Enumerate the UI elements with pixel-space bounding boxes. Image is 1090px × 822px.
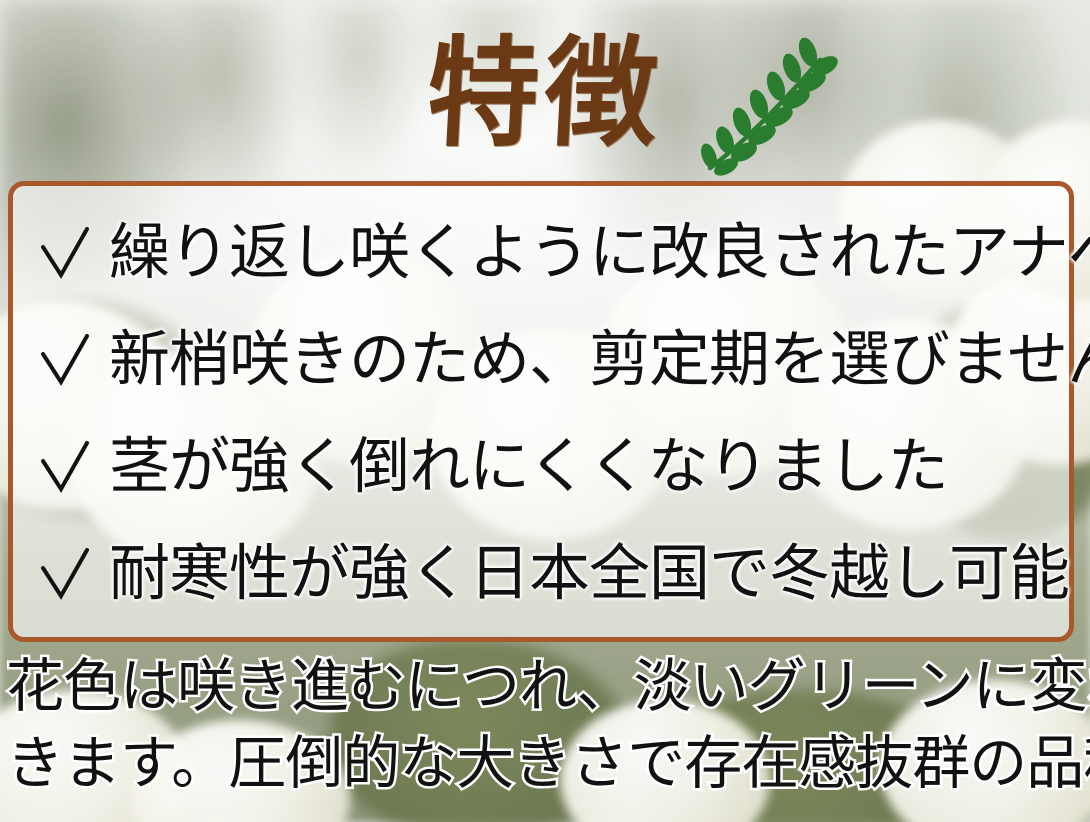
check-icon bbox=[37, 328, 93, 392]
feature-banner: 特徴 繰り返し咲くように改良されたアナベル bbox=[0, 0, 1090, 822]
caption-block: 花色は咲き進むにつれ、淡いグリーンに変わってい きます。圧倒的な大きさで存在感抜… bbox=[6, 648, 1086, 802]
check-icon bbox=[37, 542, 93, 606]
check-icon bbox=[37, 435, 93, 499]
caption-line: きます。圧倒的な大きさで存在感抜群の品種です。 bbox=[6, 725, 1086, 802]
caption-line: 花色は咲き進むにつれ、淡いグリーンに変わってい bbox=[6, 648, 1086, 725]
feature-item-label: 茎が強く倒れにくくなりました bbox=[109, 435, 948, 499]
feature-item: 繰り返し咲くように改良されたアナベル bbox=[23, 205, 1059, 301]
feature-item: 耐寒性が強く日本全国で冬越し可能 bbox=[23, 526, 1059, 622]
title-area: 特徴 bbox=[0, 14, 1090, 174]
feature-item: 茎が強く倒れにくくなりました bbox=[23, 419, 1059, 515]
feature-item-label: 繰り返し咲くように改良されたアナベル bbox=[109, 221, 1090, 285]
feature-list-box: 繰り返し咲くように改良されたアナベル 新梢咲きのため、剪定期を選びません 茎が強… bbox=[8, 181, 1074, 642]
check-icon bbox=[37, 221, 93, 285]
feature-item-label: 耐寒性が強く日本全国で冬越し可能 bbox=[109, 542, 1069, 606]
feature-item-label: 新梢咲きのため、剪定期を選びません bbox=[109, 328, 1090, 392]
feature-item: 新梢咲きのため、剪定期を選びません bbox=[23, 312, 1059, 408]
page-title: 特徴 bbox=[424, 35, 666, 154]
